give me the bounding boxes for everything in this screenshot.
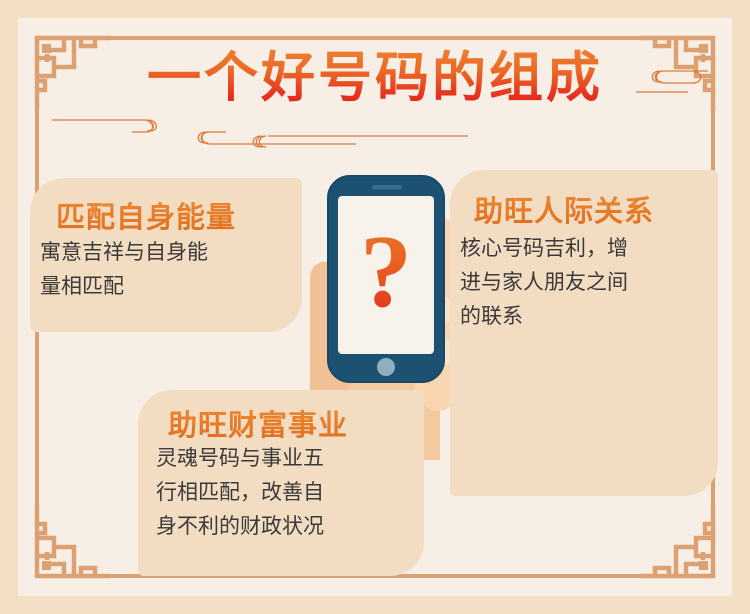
card-body-match-energy: 寓意吉祥与自身能 量相匹配 xyxy=(40,236,298,304)
frame-line-top xyxy=(35,36,715,40)
svg-text:?: ? xyxy=(360,214,412,329)
card-match-energy[interactable]: 匹配自身能量 寓意吉祥与自身能 量相匹配 xyxy=(30,178,302,332)
infographic-poster: 一个好号码的组成 xyxy=(0,0,750,614)
card-title-match-energy: 匹配自身能量 xyxy=(56,194,236,236)
card-body-boost-wealth-career: 灵魂号码与事业五 行相匹配，改善自 身不利的财政状况 xyxy=(156,442,418,544)
cloud-motif-right-inner-icon xyxy=(238,130,468,155)
cloud-motif-left-icon xyxy=(52,112,172,143)
card-title-boost-wealth-career: 助旺财富事业 xyxy=(168,402,348,444)
page-title: 一个好号码的组成 xyxy=(0,46,750,110)
card-body-boost-relationships: 核心号码吉利，增 进与家人朋友之间 的联系 xyxy=(460,232,712,334)
corner-fret-bottom-right-icon xyxy=(640,504,732,596)
card-title-boost-relationships: 助旺人际关系 xyxy=(474,188,654,230)
card-boost-wealth-career[interactable]: 助旺财富事业 灵魂号码与事业五 行相匹配，改善自 身不利的财政状况 xyxy=(138,390,424,576)
corner-fret-bottom-left-icon xyxy=(18,504,110,596)
card-boost-relationships[interactable]: 助旺人际关系 核心号码吉利，增 进与家人朋友之间 的联系 xyxy=(450,170,718,496)
